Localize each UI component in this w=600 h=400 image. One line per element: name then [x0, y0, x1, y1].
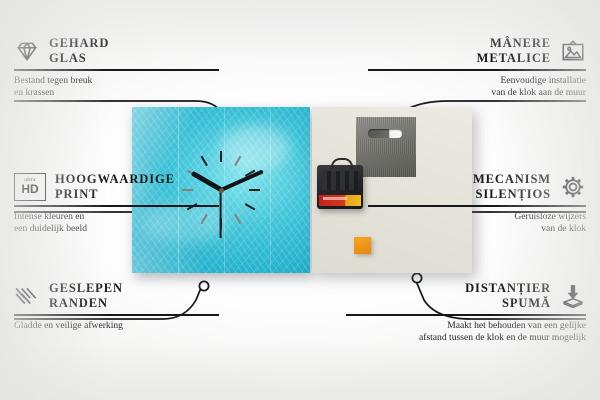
- hanging-loop: [331, 158, 353, 169]
- keyhole-slot: [368, 129, 402, 138]
- spacer-down-arrow-icon: [560, 283, 586, 309]
- ultra-hd-big-text: HD: [21, 183, 38, 195]
- callout-rule: [368, 69, 586, 71]
- metal-hanger-plate: [356, 117, 416, 177]
- callout-title: GESLEPENRANDEN: [49, 281, 123, 310]
- callout-gehard-glas: GEHARDGLAS Bestand tegen breuken krassen: [14, 36, 232, 99]
- callout-rule: [14, 69, 219, 71]
- callout-title: DISTANȚIERSPUMĂ: [465, 281, 551, 310]
- callout-title: GEHARDGLAS: [49, 36, 109, 65]
- callout-desc: Bestand tegen breuken krassen: [14, 75, 232, 100]
- battery-label: [319, 195, 361, 206]
- callout-rule: [346, 314, 586, 316]
- callout-rule: [368, 205, 586, 207]
- ultra-hd-icon: ultra HD: [14, 173, 46, 201]
- callout-manere-metalice: MÂNEREMETALICE Eenvoudige installatievan…: [368, 36, 586, 99]
- infographic-canvas: GEHARDGLAS Bestand tegen breuken krassen…: [0, 0, 600, 400]
- diamond-icon: [14, 38, 40, 64]
- callout-rule: [14, 314, 219, 316]
- callout-title: MÂNEREMETALICE: [477, 36, 551, 65]
- beveled-edges-icon: [14, 283, 40, 309]
- orange-foam-spacer: [354, 237, 371, 254]
- callout-mecanism-silentios: MECANISMSILENȚIOS Geruisloze wijzersvan …: [368, 172, 586, 235]
- callout-hoogwaardige-print: ultra HD HOOGWAARDIGEPRINT Intense kleur…: [14, 172, 232, 235]
- callout-desc: Geruisloze wijzersvan de klok: [368, 211, 586, 236]
- callout-desc: Eenvoudige installatievan de klok aan de…: [368, 75, 586, 100]
- callout-rule: [14, 205, 219, 207]
- callout-title: MECANISMSILENȚIOS: [473, 172, 551, 201]
- gear-icon: [560, 174, 586, 200]
- mechanism-grille: [322, 171, 358, 190]
- quartz-clock-mechanism: [317, 165, 363, 209]
- callout-title: HOOGWAARDIGEPRINT: [55, 172, 175, 201]
- callout-distantier-spuma: DISTANȚIERSPUMĂ Maakt het behouden van e…: [346, 281, 586, 344]
- picture-frame-hook-icon: [560, 38, 586, 64]
- callout-desc: Intense kleuren eneen duidelijk beeld: [14, 211, 232, 236]
- callout-geslepen-randen: GESLEPENRANDEN Gladde en veilige afwerki…: [14, 281, 232, 332]
- callout-desc: Gladde en veilige afwerking: [14, 320, 232, 332]
- callout-desc: Maakt het behouden van een gelijkeafstan…: [346, 320, 586, 345]
